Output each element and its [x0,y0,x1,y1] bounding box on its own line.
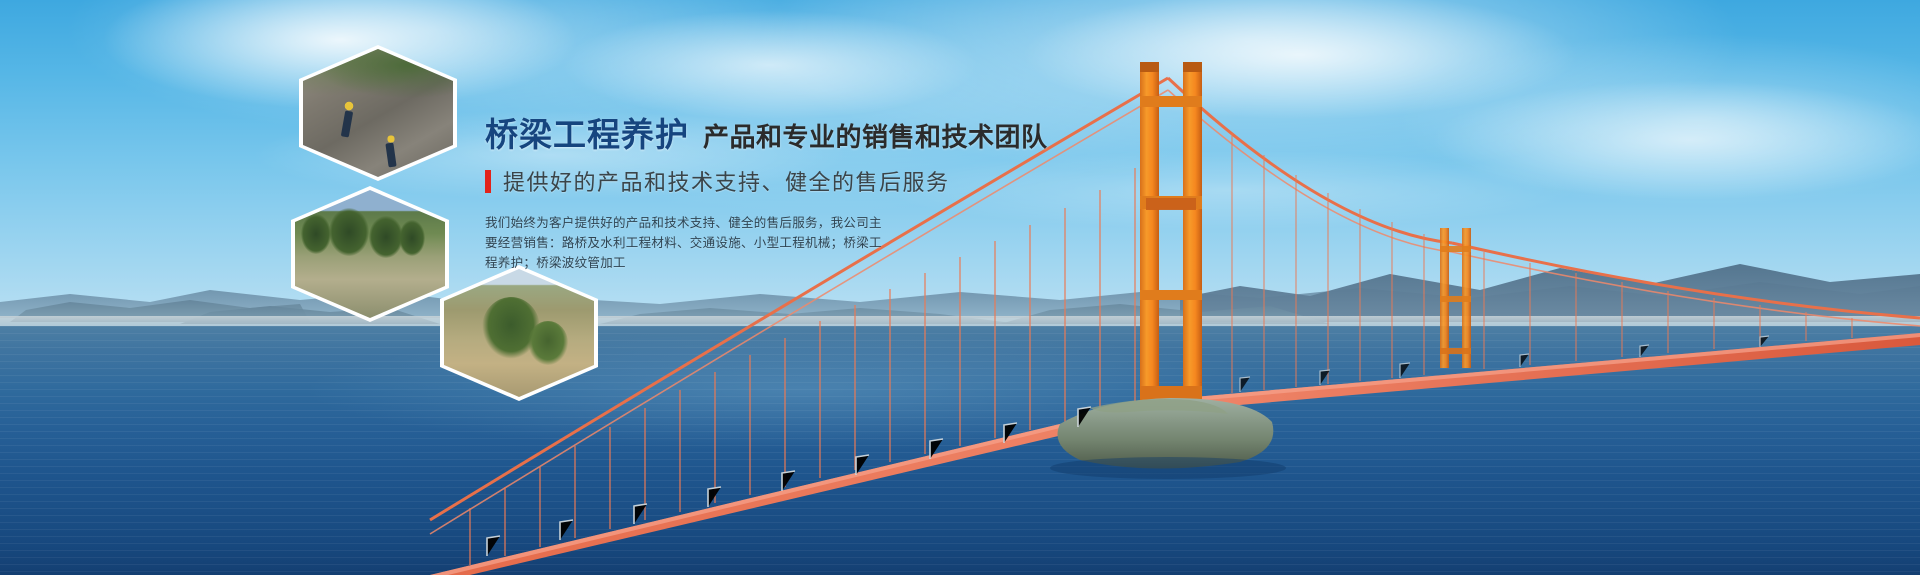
tree-shape [369,216,403,258]
accent-bar [485,170,491,193]
banner-headline: 桥梁工程养护产品和专业的销售和技术团队 [485,118,1125,151]
subheadline-text: 提供好的产品和技术支持、健全的售后服务 [503,165,950,197]
sea-water [0,326,1920,575]
shrub-shape [528,321,568,365]
banner-body-copy: 我们始终为客户提供好的产品和技术支持、健全的售后服务，我公司主要经营销售：路桥及… [485,213,885,273]
tree-shape [301,214,331,254]
banner-subheadline: 提供好的产品和技术支持、健全的售后服务 [485,165,1125,197]
tree-shape [399,220,425,256]
tree-shape [329,208,369,256]
headline-primary: 桥梁工程养护 [485,116,689,153]
headline-secondary: 产品和专业的销售和技术团队 [703,122,1048,152]
hero-banner: 桥梁工程养护产品和专业的销售和技术团队 提供好的产品和技术支持、健全的售后服务 … [0,0,1920,575]
banner-text-block: 桥梁工程养护产品和专业的销售和技术团队 提供好的产品和技术支持、健全的售后服务 … [485,118,1125,273]
